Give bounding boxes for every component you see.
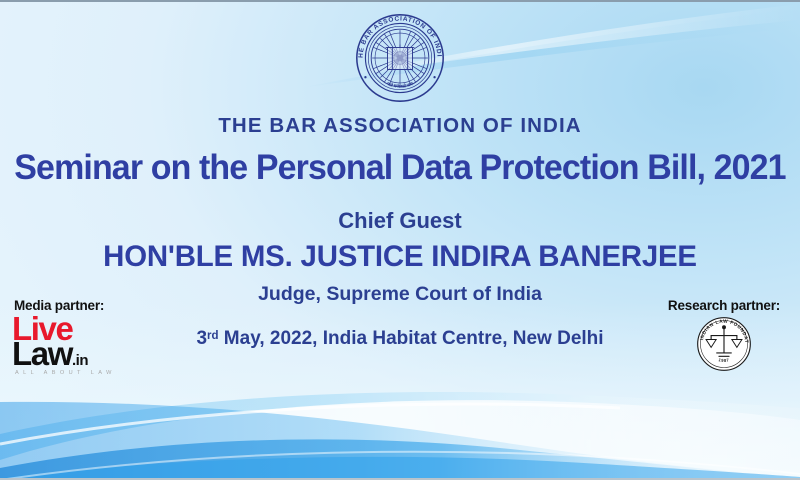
ilf-year-text: 1987	[718, 357, 730, 363]
media-partner-block: Media partner: Live Law.in ALL ABOUT LAW	[10, 298, 136, 376]
organization-name: THE BAR ASSOCIATION OF INDIA	[0, 114, 800, 138]
page-title: Seminar on the Personal Data Protection …	[12, 148, 788, 188]
livelaw-logo-law: Law	[12, 335, 72, 372]
event-date-ordinal: rd	[207, 330, 219, 342]
indian-law-foundation-seal-icon: THE INDIAN LAW FOUNDATION 1987	[696, 316, 752, 372]
svg-text:1987: 1987	[718, 357, 730, 363]
chief-guest-label: Chief Guest	[0, 208, 800, 234]
chief-guest-name: HON'BLE MS. JUSTICE INDIRA BANERJEE	[8, 240, 792, 274]
livelaw-logo-domain: .in	[72, 352, 88, 369]
seminar-poster: THE BAR ASSOCIATION OF INDIA यतो धर्मस्त…	[0, 0, 800, 480]
chakra-wheel-icon	[371, 29, 429, 87]
event-date-number: 3	[196, 328, 207, 349]
research-partner-block: Research partner: THE INDIAN LAW FOUNDAT…	[654, 298, 794, 372]
research-partner-label: Research partner:	[654, 298, 794, 313]
livelaw-logo[interactable]: Live Law.in ALL ABOUT LAW	[10, 315, 136, 376]
indian-law-foundation-logo[interactable]: THE INDIAN LAW FOUNDATION 1987	[696, 316, 752, 372]
livelaw-logo-lawrow: Law.in	[12, 340, 136, 368]
event-venue-text: May, 2022, India Habitat Centre, New Del…	[219, 328, 604, 349]
bar-association-emblem: THE BAR ASSOCIATION OF INDIA यतो धर्मस्त…	[352, 10, 448, 106]
bar-association-seal-icon: THE BAR ASSOCIATION OF INDIA यतो धर्मस्त…	[352, 10, 448, 106]
livelaw-tagline: ALL ABOUT LAW	[12, 371, 136, 376]
